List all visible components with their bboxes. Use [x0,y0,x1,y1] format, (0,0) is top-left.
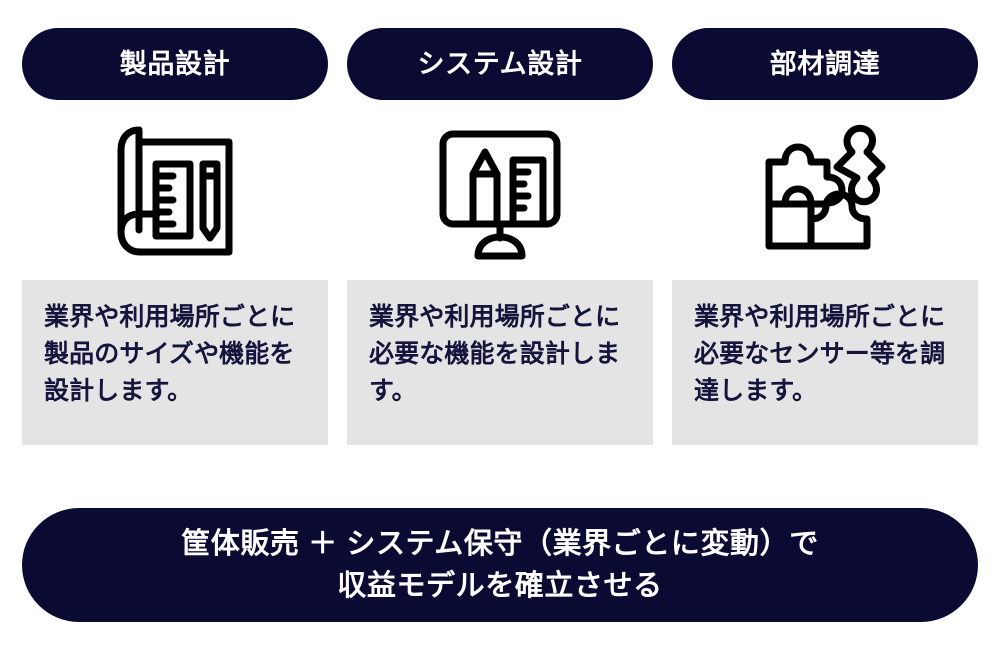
columns-row: 製品設計 [22,28,978,445]
monitor-pencil-ruler-icon [433,120,567,260]
pill-label: 製品設計 [120,51,231,78]
icon-parts-procurement [672,100,978,280]
pill-label: 部材調達 [770,51,881,78]
banner-text: 筐体販売 ＋ システム保守（業界ごとに変動）で 収益モデルを確立させる [181,523,819,607]
description-card-parts-procurement: 業界や利用場所ごとに必要なセンサー等を調達します。 [672,280,978,445]
description-card-product-design: 業界や利用場所ごとに製品のサイズや機能を設計します。 [22,280,328,445]
column-parts-procurement: 部材調達 業界や利 [672,28,978,445]
blueprint-ruler-pencil-icon [111,120,239,260]
pill-product-design[interactable]: 製品設計 [22,28,328,100]
puzzle-pieces-icon [759,120,891,260]
pill-system-design[interactable]: システム設計 [347,28,653,100]
description-text: 業界や利用場所ごとに必要な機能を設計します。 [369,299,633,410]
description-text: 業界や利用場所ごとに製品のサイズや機能を設計します。 [44,299,308,410]
icon-product-design [22,100,328,280]
column-system-design: システム設計 [347,28,653,445]
pill-parts-procurement[interactable]: 部材調達 [672,28,978,100]
icon-system-design [347,100,653,280]
revenue-model-banner[interactable]: 筐体販売 ＋ システム保守（業界ごとに変動）で 収益モデルを確立させる [22,508,978,622]
description-card-system-design: 業界や利用場所ごとに必要な機能を設計します。 [347,280,653,445]
pill-label: システム設計 [417,51,582,78]
process-diagram: 製品設計 [0,0,1000,645]
column-product-design: 製品設計 [22,28,328,445]
description-text: 業界や利用場所ごとに必要なセンサー等を調達します。 [694,299,958,410]
